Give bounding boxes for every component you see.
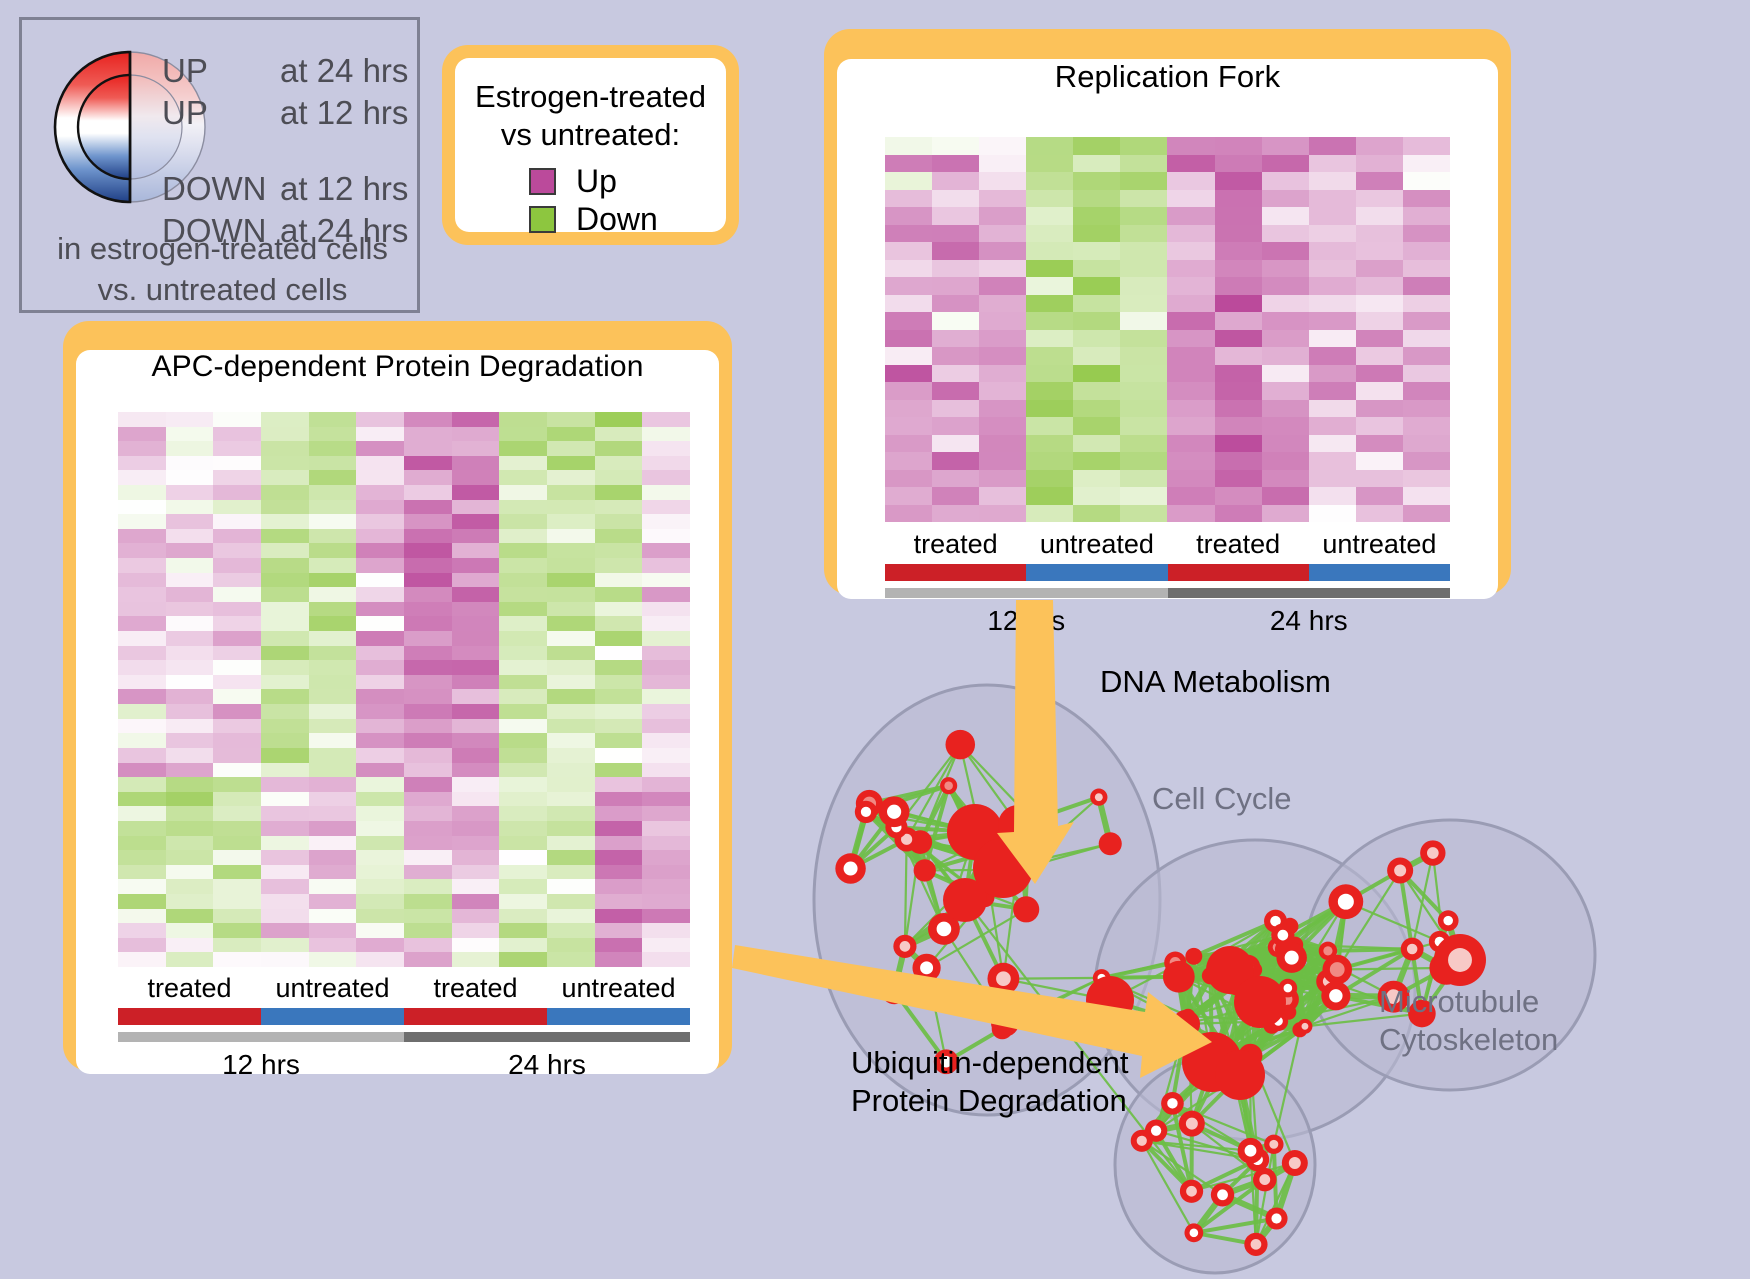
heatmap-cell xyxy=(885,207,932,225)
heatmap-cell xyxy=(1026,505,1073,523)
heatmap-cell xyxy=(1215,382,1262,400)
heatmap-cell xyxy=(1215,417,1262,435)
legend-item-down: Down xyxy=(529,200,726,238)
heatmap-cell xyxy=(261,689,309,704)
heatmap-cell xyxy=(166,865,214,880)
heatmap-cell xyxy=(1403,330,1450,348)
heatmap-cell xyxy=(404,806,452,821)
heatmap-cell xyxy=(642,850,690,865)
heatmap-cell xyxy=(979,400,1026,418)
heatmap-cell xyxy=(1026,207,1073,225)
heatmap-cell xyxy=(261,500,309,515)
heatmap-cell xyxy=(595,427,643,442)
heatmap-cell xyxy=(547,719,595,734)
heatmap-cell xyxy=(404,558,452,573)
heatmap-cell xyxy=(979,312,1026,330)
heatmap-cell xyxy=(1309,225,1356,243)
network-node-core xyxy=(1186,1118,1198,1130)
treatment-segment xyxy=(547,1008,690,1025)
heatmap-cell xyxy=(404,427,452,442)
apc-degradation-panel: APC-dependent Protein Degradation treate… xyxy=(63,321,732,1071)
heatmap-cell xyxy=(499,806,547,821)
heatmap-cell xyxy=(547,456,595,471)
heatmap-cell xyxy=(1120,435,1167,453)
heatmap-cell xyxy=(499,558,547,573)
heatmap-cell xyxy=(499,441,547,456)
time-segment xyxy=(885,588,1168,598)
heatmap-cell xyxy=(356,470,404,485)
heatmap-cell xyxy=(1120,190,1167,208)
heatmap-cell xyxy=(309,792,357,807)
heatmap-cell xyxy=(452,748,500,763)
heatmap-cell xyxy=(1262,487,1309,505)
network-node-core xyxy=(1217,1189,1228,1200)
heatmap-cell xyxy=(452,923,500,938)
heatmap-cell xyxy=(404,938,452,953)
heatmap-cell xyxy=(1026,347,1073,365)
heatmap-cell xyxy=(499,689,547,704)
heatmap-cell xyxy=(166,952,214,967)
heatmap-cell xyxy=(213,894,261,909)
heatmap-cell xyxy=(1262,207,1309,225)
heatmap-cell xyxy=(356,558,404,573)
heatmap-cell xyxy=(979,452,1026,470)
heatmap-cell xyxy=(452,631,500,646)
heatmap-cell xyxy=(1073,295,1120,313)
network-node xyxy=(1215,1050,1265,1100)
network-node-core xyxy=(1329,989,1342,1002)
heatmap-cell xyxy=(885,417,932,435)
heatmap-cell xyxy=(1120,470,1167,488)
heatmap-cell xyxy=(118,573,166,588)
heatmap-cell xyxy=(499,675,547,690)
heatmap-cell xyxy=(885,295,932,313)
heatmap-cell xyxy=(979,295,1026,313)
heatmap-cell xyxy=(213,602,261,617)
heatmap-cell xyxy=(356,631,404,646)
heatmap-cell xyxy=(642,558,690,573)
heatmap-cell xyxy=(595,573,643,588)
heatmap-cell xyxy=(547,894,595,909)
heatmap-cell xyxy=(213,909,261,924)
heatmap-cell xyxy=(166,660,214,675)
heatmap-cell xyxy=(1073,417,1120,435)
heatmap-cell xyxy=(309,441,357,456)
heatmap-cell xyxy=(1356,137,1403,155)
heatmap-cell xyxy=(404,543,452,558)
heatmap-cell xyxy=(642,514,690,529)
heatmap-cell xyxy=(1262,242,1309,260)
heatmap-cell xyxy=(118,894,166,909)
heatmap-cell xyxy=(404,777,452,792)
heatmap-cell xyxy=(404,909,452,924)
heatmap-cell xyxy=(1403,417,1450,435)
heatmap-cell xyxy=(452,733,500,748)
heatmap-cell xyxy=(642,660,690,675)
heatmap-cell xyxy=(595,865,643,880)
network-node-core xyxy=(900,941,911,952)
treatment-segment xyxy=(404,1008,547,1025)
heatmap-cell xyxy=(261,763,309,778)
heatmap-cell xyxy=(642,719,690,734)
heatmap-cell xyxy=(499,616,547,631)
heatmap-cell xyxy=(261,485,309,500)
heatmap-cell xyxy=(499,646,547,661)
heatmap-cell xyxy=(213,587,261,602)
heatmap-cell xyxy=(1356,295,1403,313)
heatmap-cell xyxy=(1403,155,1450,173)
heatmap-cell xyxy=(261,952,309,967)
heatmap-cell xyxy=(309,850,357,865)
heatmap-cell xyxy=(213,879,261,894)
heatmap-cell xyxy=(213,470,261,485)
heatmap-cell xyxy=(213,529,261,544)
heatmap-cell xyxy=(979,330,1026,348)
treatment-colorbar xyxy=(118,1008,690,1025)
heatmap-cell xyxy=(404,500,452,515)
heatmap-cell xyxy=(885,365,932,383)
network-node-core xyxy=(888,985,900,997)
heatmap-cell xyxy=(932,155,979,173)
heatmap-cell xyxy=(1026,277,1073,295)
heatmap-cell xyxy=(1120,382,1167,400)
network-node-core xyxy=(1245,1145,1257,1157)
heatmap-cell xyxy=(404,441,452,456)
heatmap-cell xyxy=(213,733,261,748)
heatmap-cell xyxy=(1026,242,1073,260)
heatmap-cell xyxy=(642,894,690,909)
key-direction: DOWN xyxy=(162,170,280,208)
heatmap-cell xyxy=(1403,487,1450,505)
heatmap-cell xyxy=(1356,417,1403,435)
heatmap-cell xyxy=(885,260,932,278)
network-node-core xyxy=(1448,948,1472,972)
heatmap-cell xyxy=(1073,242,1120,260)
heatmap-cell xyxy=(213,763,261,778)
heatmap-cell xyxy=(118,792,166,807)
heatmap-cell xyxy=(595,587,643,602)
heatmap-cell xyxy=(404,616,452,631)
heatmap-cell xyxy=(1120,312,1167,330)
heatmap-cell xyxy=(261,821,309,836)
heatmap-cell xyxy=(979,435,1026,453)
heatmap-cell xyxy=(118,719,166,734)
heatmap-cell xyxy=(885,435,932,453)
heatmap-cell xyxy=(356,456,404,471)
heatmap-cell xyxy=(1262,435,1309,453)
heatmap-cell xyxy=(356,952,404,967)
pathway-network-graph xyxy=(760,610,1750,1279)
heatmap-cell xyxy=(356,689,404,704)
heatmap-cell xyxy=(499,660,547,675)
heatmap-cell xyxy=(1309,435,1356,453)
heatmap-cell xyxy=(932,400,979,418)
heatmap-cell xyxy=(1215,452,1262,470)
heatmap-cell xyxy=(1026,435,1073,453)
network-node-core xyxy=(1284,984,1293,993)
heatmap-cell xyxy=(118,514,166,529)
heatmap-cell xyxy=(547,485,595,500)
heatmap-cell xyxy=(309,821,357,836)
heatmap-cell xyxy=(261,543,309,558)
heatmap-cell xyxy=(309,938,357,953)
heatmap-cell xyxy=(885,242,932,260)
heatmap-cell xyxy=(1073,190,1120,208)
heatmap-cell xyxy=(356,660,404,675)
heatmap-cell xyxy=(404,456,452,471)
heatmap-cell xyxy=(932,172,979,190)
heatmap-cell xyxy=(261,836,309,851)
network-node-core xyxy=(920,961,933,974)
heatmap-cell xyxy=(1073,365,1120,383)
heatmap-cell xyxy=(452,675,500,690)
heatmap-cell xyxy=(452,587,500,602)
heatmap-cell xyxy=(213,704,261,719)
heatmap-cell xyxy=(118,631,166,646)
heatmap-cell xyxy=(452,441,500,456)
heatmap-cell xyxy=(642,587,690,602)
heatmap-cell xyxy=(547,602,595,617)
heatmap-cell xyxy=(1262,295,1309,313)
heatmap-cell xyxy=(979,347,1026,365)
heatmap-cell xyxy=(1073,225,1120,243)
heatmap-cell xyxy=(595,879,643,894)
heatmap-cell xyxy=(1356,452,1403,470)
heatmap-cell xyxy=(1403,400,1450,418)
heatmap-cell xyxy=(404,704,452,719)
network-node-core xyxy=(1302,1023,1309,1030)
heatmap-cell xyxy=(1215,225,1262,243)
heatmap-cell xyxy=(166,500,214,515)
heatmap-cell xyxy=(1026,190,1073,208)
heatmap-cell xyxy=(595,660,643,675)
heatmap-cell xyxy=(499,529,547,544)
heatmap-cell xyxy=(1403,260,1450,278)
heatmap-cell xyxy=(213,485,261,500)
heatmap-cell xyxy=(979,417,1026,435)
heatmap-cell xyxy=(118,587,166,602)
heatmap-cell xyxy=(166,836,214,851)
heatmap-cell xyxy=(1262,470,1309,488)
heatmap-cell xyxy=(166,529,214,544)
heatmap-cell xyxy=(404,836,452,851)
heatmap-cell xyxy=(547,923,595,938)
heatmap-cell xyxy=(595,909,643,924)
heatmap-cell xyxy=(1309,365,1356,383)
heatmap-cell xyxy=(1120,172,1167,190)
heatmap-cell xyxy=(261,412,309,427)
heatmap-cell xyxy=(547,938,595,953)
heatmap-cell xyxy=(166,704,214,719)
heatmap-cell xyxy=(979,382,1026,400)
heatmap-cell xyxy=(261,573,309,588)
panel-title: APC-dependent Protein Degradation xyxy=(76,350,719,384)
heatmap-cell xyxy=(595,485,643,500)
heatmap-cell xyxy=(118,558,166,573)
heatmap-cell xyxy=(1073,435,1120,453)
heatmap-cell xyxy=(309,616,357,631)
heatmap-cell xyxy=(499,850,547,865)
heatmap-cell xyxy=(1403,505,1450,523)
heatmap-cell xyxy=(547,616,595,631)
heatmap-cell xyxy=(642,777,690,792)
heatmap-cell xyxy=(595,763,643,778)
heatmap-cell xyxy=(1309,400,1356,418)
heatmap-cell xyxy=(1120,487,1167,505)
legend-title: Estrogen-treated vs untreated: xyxy=(455,78,726,154)
heatmap-cell xyxy=(261,514,309,529)
heatmap-cell xyxy=(595,558,643,573)
heatmap-cell xyxy=(1262,260,1309,278)
heatmap-cell xyxy=(309,602,357,617)
heatmap-cell xyxy=(118,733,166,748)
heatmap-cell xyxy=(166,587,214,602)
heatmap-cell xyxy=(595,792,643,807)
heatmap-cell xyxy=(1403,295,1450,313)
heatmap-cell xyxy=(356,412,404,427)
heatmap-cell xyxy=(642,543,690,558)
treatment-segment xyxy=(1168,564,1309,581)
heatmap-cell xyxy=(356,879,404,894)
heatmap-cell xyxy=(261,631,309,646)
heatmap-cell xyxy=(309,879,357,894)
heatmap-cell xyxy=(499,485,547,500)
heatmap-cell xyxy=(1120,242,1167,260)
heatmap-cell xyxy=(1167,417,1214,435)
heatmap-cell xyxy=(356,806,404,821)
heatmap-cell xyxy=(213,514,261,529)
heatmap-cell xyxy=(885,330,932,348)
heatmap-cell xyxy=(356,500,404,515)
heatmap-cell xyxy=(118,689,166,704)
heatmap-cell xyxy=(452,689,500,704)
heatmap-cell xyxy=(356,923,404,938)
heatmap-cell xyxy=(1120,295,1167,313)
heatmap-cell xyxy=(932,190,979,208)
heatmap-cell xyxy=(1073,155,1120,173)
heatmap-cell xyxy=(261,660,309,675)
heatmap-cell xyxy=(213,631,261,646)
heatmap-cell xyxy=(404,733,452,748)
heatmap-cell xyxy=(1215,155,1262,173)
heatmap-cell xyxy=(1215,295,1262,313)
heatmap-cell xyxy=(1026,155,1073,173)
heatmap-cell xyxy=(595,836,643,851)
heatmap-cell xyxy=(1309,487,1356,505)
heatmap-cell xyxy=(166,543,214,558)
heatmap-cell xyxy=(1026,400,1073,418)
network-node xyxy=(1013,896,1039,922)
heatmap-cell xyxy=(1215,470,1262,488)
network-node-core xyxy=(1394,864,1406,876)
heatmap-cell xyxy=(404,923,452,938)
heatmap-cell xyxy=(166,631,214,646)
heatmap-cell xyxy=(547,543,595,558)
heatmap-cell xyxy=(309,836,357,851)
heatmap-cell xyxy=(356,719,404,734)
heatmap-cell xyxy=(356,543,404,558)
down-swatch-icon xyxy=(529,206,556,233)
heatmap-cell xyxy=(166,427,214,442)
network-node xyxy=(992,1018,1013,1039)
heatmap-cell xyxy=(642,923,690,938)
heatmap-cell xyxy=(1073,470,1120,488)
heatmap-cell xyxy=(979,365,1026,383)
heatmap-cell xyxy=(309,675,357,690)
heatmap-cell xyxy=(1215,242,1262,260)
heatmap-cell xyxy=(452,602,500,617)
heatmap-cell xyxy=(261,558,309,573)
heatmap-cell xyxy=(1215,137,1262,155)
heatmap-cell xyxy=(261,850,309,865)
heatmap-cell xyxy=(452,763,500,778)
heatmap-cell xyxy=(1026,295,1073,313)
heatmap-cell xyxy=(642,427,690,442)
heatmap-cell xyxy=(356,675,404,690)
heatmap-cell xyxy=(1073,137,1120,155)
heatmap-cell xyxy=(1073,260,1120,278)
heatmap-cell xyxy=(213,689,261,704)
heatmap-cell xyxy=(213,836,261,851)
network-node-core xyxy=(1277,930,1288,941)
heatmap-cell xyxy=(166,689,214,704)
heatmap-cell xyxy=(118,427,166,442)
heatmap-cell xyxy=(642,792,690,807)
heatmap-cell xyxy=(932,330,979,348)
heatmap-cell xyxy=(1167,172,1214,190)
heatmap-cell xyxy=(979,172,1026,190)
heatmap-cell xyxy=(166,923,214,938)
heatmap-cell xyxy=(1262,137,1309,155)
heatmap-cell xyxy=(261,894,309,909)
heatmap-cell xyxy=(213,573,261,588)
heatmap-cell xyxy=(1262,365,1309,383)
heatmap-cell xyxy=(309,733,357,748)
heatmap-cell xyxy=(932,242,979,260)
heatmap-cell xyxy=(1026,365,1073,383)
sample-labels: treated untreated treated untreated xyxy=(118,973,690,1004)
network-node-core xyxy=(1289,1157,1301,1169)
heatmap-cell xyxy=(356,763,404,778)
heatmap-cell xyxy=(547,646,595,661)
heatmap-cell xyxy=(595,412,643,427)
heatmap-cell xyxy=(404,470,452,485)
heatmap-cell xyxy=(1026,137,1073,155)
heatmap-cell xyxy=(499,821,547,836)
heatmap-cell xyxy=(213,616,261,631)
heatmap-cell xyxy=(452,894,500,909)
heatmap-cell xyxy=(595,500,643,515)
heatmap-cell xyxy=(642,529,690,544)
heatmap-cell xyxy=(499,894,547,909)
heatmap-cell xyxy=(1356,400,1403,418)
heatmap-cell xyxy=(356,485,404,500)
network-node-core xyxy=(937,922,952,937)
key-direction: UP xyxy=(162,52,280,90)
heatmap-cell xyxy=(309,865,357,880)
ring-key-rows: UP at 24 hrs UP at 12 hrs DOWN at 12 hrs… xyxy=(162,50,412,252)
heatmap-cell xyxy=(595,514,643,529)
heatmap-cell xyxy=(1309,277,1356,295)
heatmap-cell xyxy=(1120,365,1167,383)
heatmap-cell xyxy=(979,487,1026,505)
heatmap-cell xyxy=(309,909,357,924)
heatmap-cell xyxy=(261,427,309,442)
heatmap-cell xyxy=(166,938,214,953)
heatmap-cell xyxy=(1215,190,1262,208)
heatmap-cell xyxy=(932,470,979,488)
heatmap-cell xyxy=(1309,330,1356,348)
